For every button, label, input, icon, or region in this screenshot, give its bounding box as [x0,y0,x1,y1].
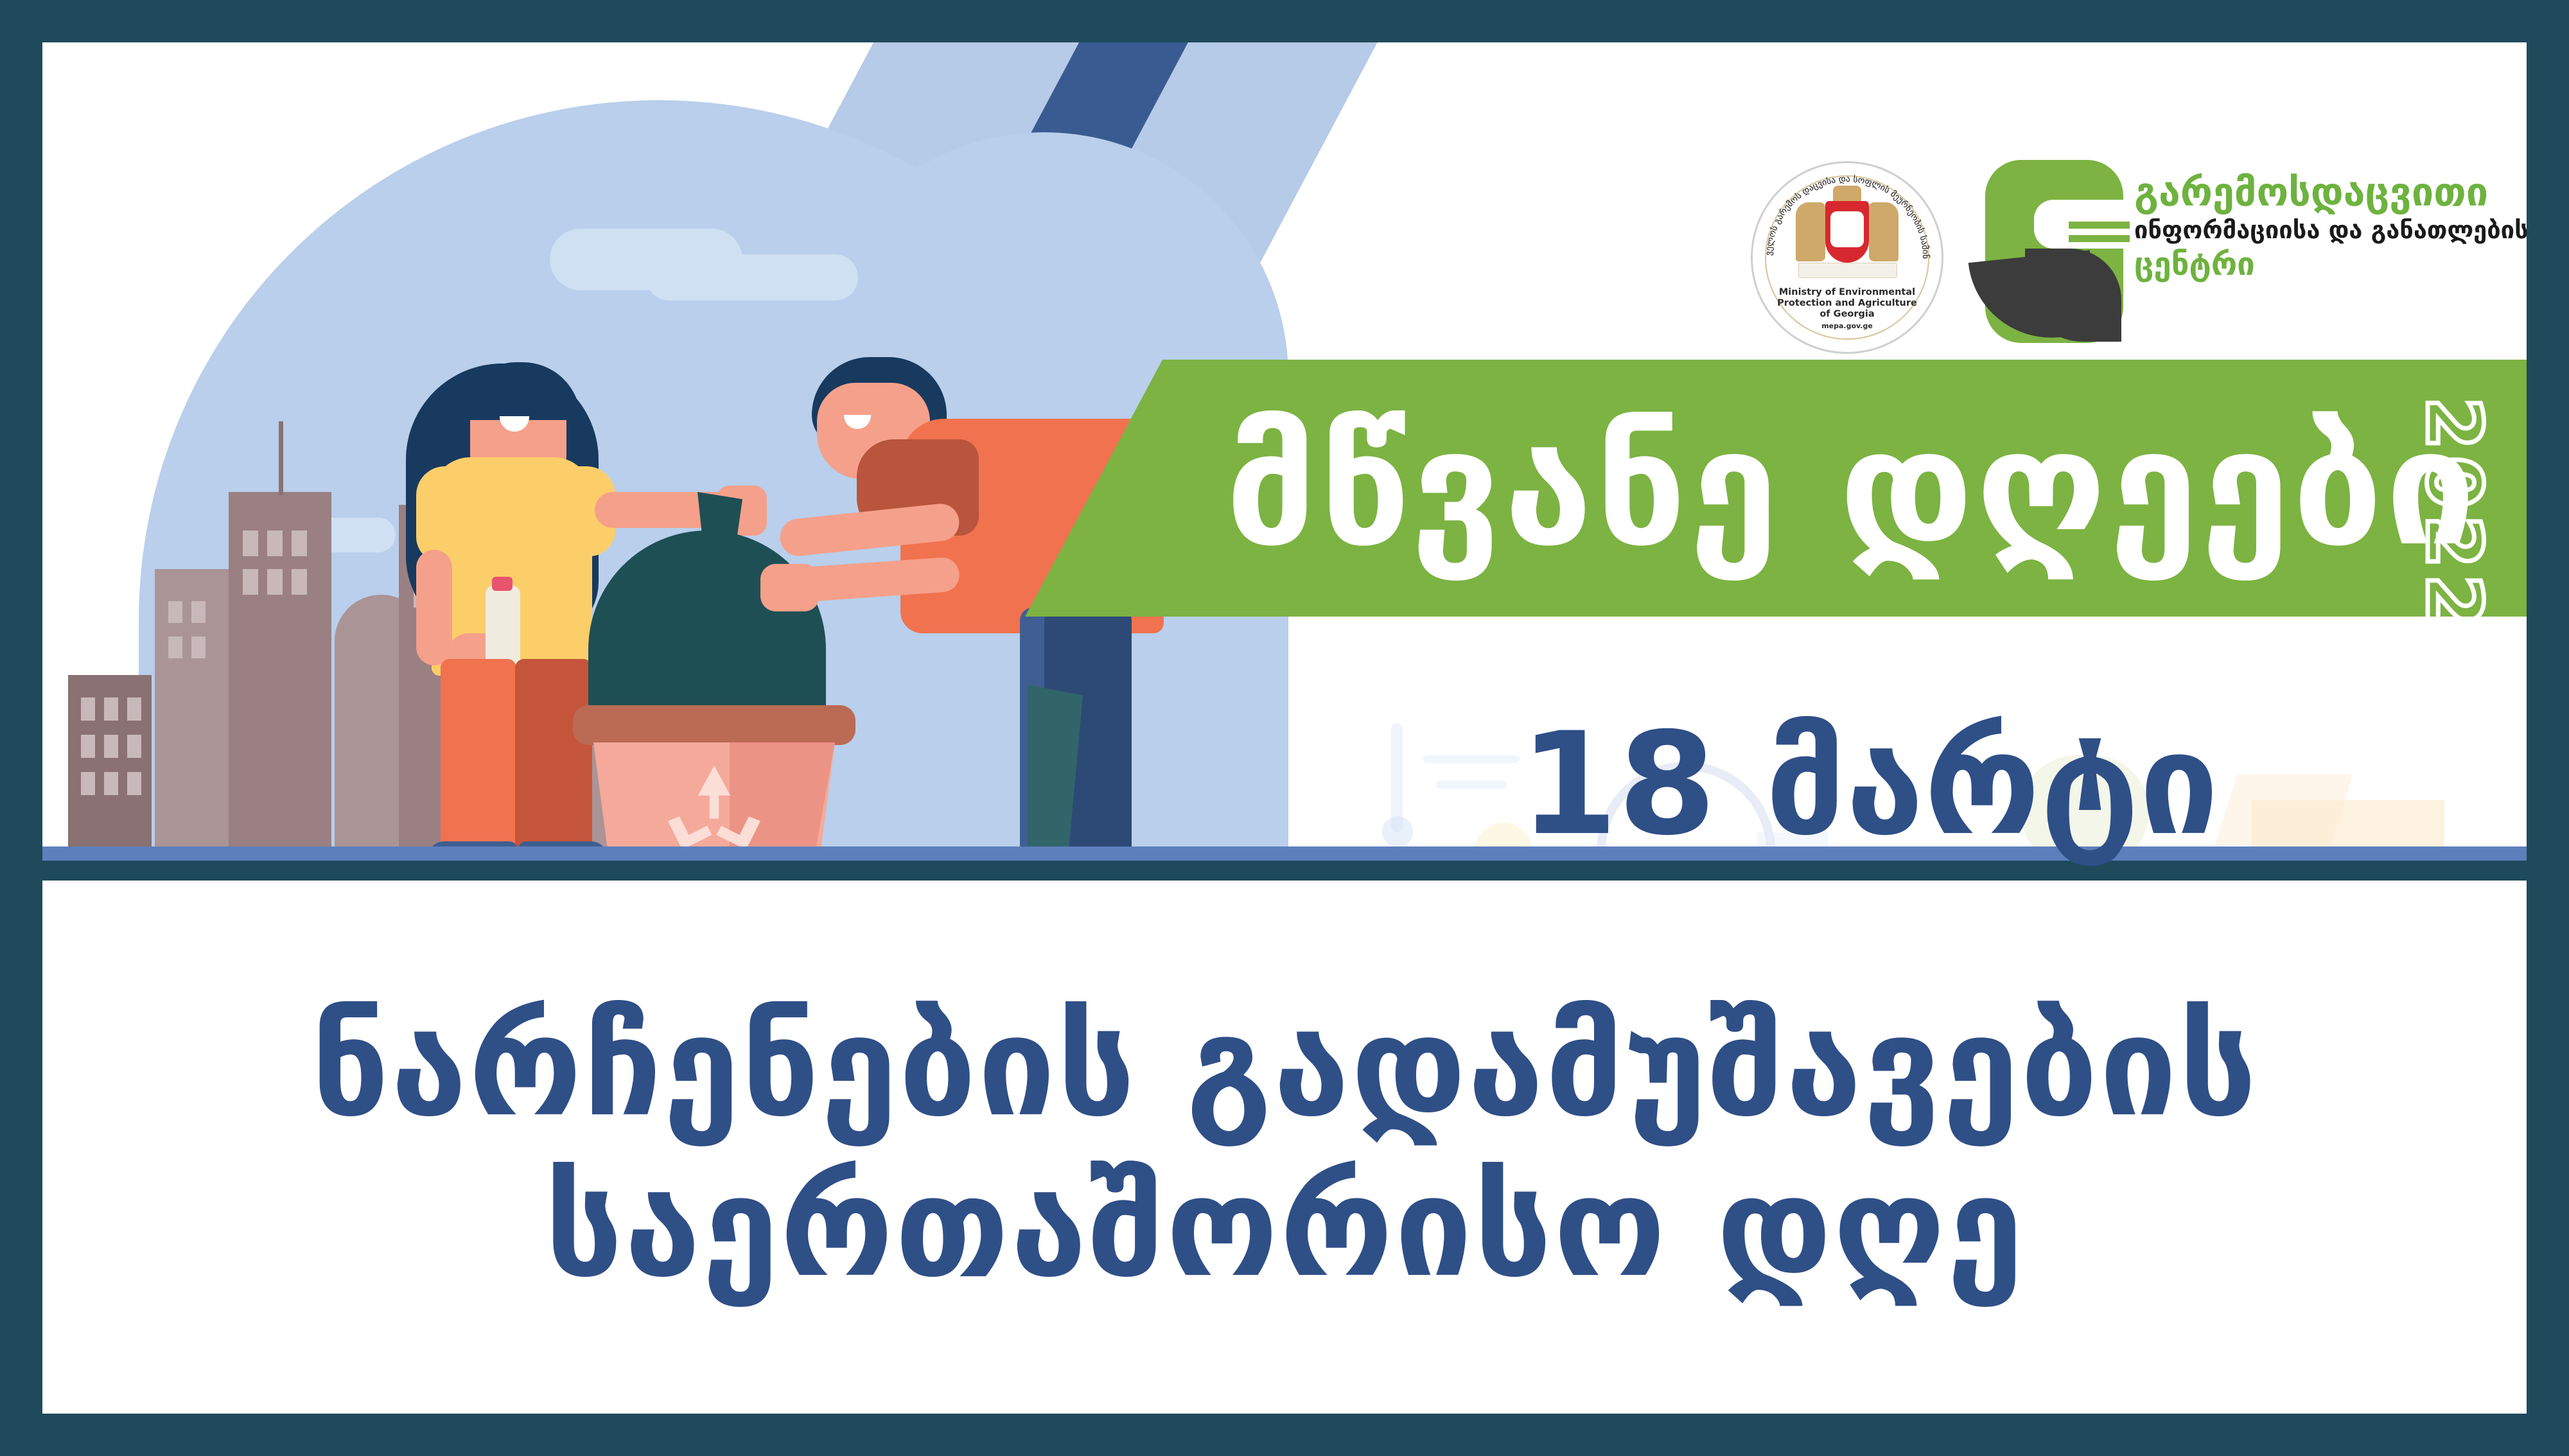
window [292,569,307,595]
window [243,531,258,556]
window [104,697,118,721]
emblem-en-line1: Ministry of Environmental [1774,287,1920,298]
window [104,772,118,795]
trash-bag-neck [697,492,742,543]
window [127,772,141,795]
window [81,772,95,795]
window [81,735,95,758]
wind-icon [1436,781,1507,789]
banner-year: 2022 [2416,397,2492,633]
center-logo-mark [1985,160,2123,343]
window [104,735,118,758]
lion-figure [1796,202,1825,261]
window [168,636,182,658]
green-title-banner: მწვანე დღეები 2022 [1025,360,2527,617]
event-date: 18 მარტი [1520,704,2432,864]
bottle-cap [492,577,513,591]
woman-sleeve-left [416,466,474,563]
woman-pants-right [515,659,592,871]
recycling-bin-lid [573,705,855,745]
cloud-icon [646,254,858,301]
thermometer-bulb [1382,816,1413,847]
center-logo-line2: ინფორმაციისა და განათლების [2134,214,2494,246]
logo-bar [2069,222,2130,229]
scene-illustration: მწვანე დღეები 2022 18 მარტი საქართვე [42,42,2527,881]
logo-bar [2069,235,2130,242]
window [127,735,141,758]
woman-arm-left [416,550,452,665]
man-hand [760,564,820,611]
lion-figure [1869,202,1898,261]
center-logo-line3: ცენტრი [2134,246,2494,283]
emblem-english-label: Ministry of Environmental Protection and… [1774,287,1920,320]
window [81,697,95,721]
window [127,697,141,721]
wind-icon [1423,755,1520,763]
window [191,601,206,623]
window [168,601,182,623]
window [292,531,307,556]
poster-frame: მწვანე დღეები 2022 18 მარტი საქართვე [0,0,2569,1456]
crown-icon [1833,186,1861,201]
ministry-emblem: საქართველოს გარემოს დაცვისა და სოფლის მე… [1751,161,1943,354]
banner-title: მწვანე დღეები [1225,398,2478,578]
headline-line-1: ნარჩენების გადამუშავების [311,987,2258,1147]
emblem-en-line3: of Georgia [1774,309,1920,320]
logo-group: საქართველოს გარემოს დაცვისა და სოფლის მე… [1738,155,2496,367]
poster-canvas: მწვანე დღეები 2022 18 მარტი საქართვე [42,42,2527,1414]
headline-block: ნარჩენების გადამუშავების საერთაშორისო დღ… [42,881,2527,1414]
emblem-url: mepa.gov.ge [1774,322,1920,330]
emblem-en-line2: Protection and Agriculture [1774,298,1920,309]
window [267,531,283,556]
emblem-ribbon [1798,263,1897,278]
headline-line-2: საერთაშორისო დღე [545,1147,2025,1308]
woman-pants-left [441,659,516,871]
center-logo-line1: გარემოსდაცვითი [2134,171,2494,214]
antenna-icon [279,421,283,495]
center-logo-text: გარემოსდაცვითი ინფორმაციისა და განათლები… [2134,171,2494,283]
window [267,569,283,595]
environmental-center-logo: გარემოსდაცვითი ინფორმაციისა და განათლები… [1985,155,2493,367]
st-george-horse-icon [1830,211,1864,247]
window [191,636,206,658]
window [243,569,258,595]
